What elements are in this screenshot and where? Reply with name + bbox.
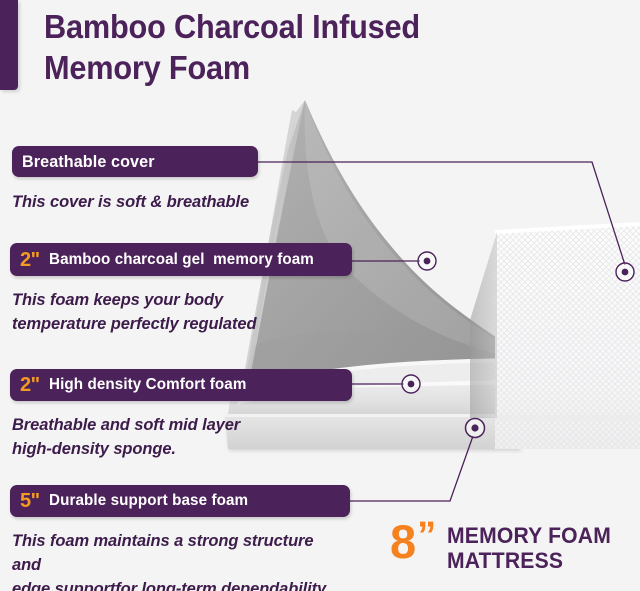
header-accent-bar — [0, 0, 18, 90]
layer-badge-label: Breathable cover — [22, 153, 155, 170]
layer-badge-label: Durable support base foam — [49, 493, 248, 509]
product-name: MEMORY FOAM MATTRESS — [447, 523, 611, 573]
marker-bamboo-charcoal-gel[interactable] — [418, 252, 436, 270]
marker-durable-support-base[interactable] — [466, 419, 485, 438]
marker-high-density-comfort[interactable] — [402, 375, 420, 393]
marker-breathable-cover[interactable] — [616, 263, 634, 281]
infographic-root: Bamboo Charcoal Infused Memory Foam Brea… — [0, 0, 640, 591]
layer-badge-breathable-cover[interactable]: Breathable cover — [12, 146, 258, 177]
layer-depth-value: 5" — [20, 491, 40, 511]
layer-badge-bamboo-charcoal-gel[interactable]: 2" Bamboo charcoal gel memory foam — [10, 243, 352, 276]
layer-badge-durable-support-base[interactable]: 5" Durable support base foam — [10, 485, 350, 517]
layer-badge-high-density-comfort[interactable]: 2" High density Comfort foam — [10, 369, 352, 401]
layer-badge-label: Bamboo charcoal gel memory foam — [49, 252, 314, 268]
layer-description-high-density-comfort: Breathable and soft mid layer high-densi… — [12, 413, 322, 461]
layer-description-bamboo-charcoal-gel: This foam keeps your body temperature pe… — [12, 288, 313, 336]
layer-depth-value: 2" — [20, 250, 40, 270]
mattress-cover-block — [495, 222, 640, 449]
layer-description-breathable-cover: This cover is soft & breathable — [12, 190, 303, 214]
product-thickness-brand: 8 ” MEMORY FOAM MATTRESS — [390, 521, 618, 573]
thickness-unit-icon: ” — [417, 521, 436, 551]
layer-description-durable-support-base: This foam maintains a strong structure a… — [12, 529, 347, 591]
layer-badge-label: High density Comfort foam — [49, 377, 246, 393]
thickness-number: 8 — [390, 521, 415, 563]
mattress-side-face — [470, 232, 497, 418]
page-title: Bamboo Charcoal Infused Memory Foam — [44, 6, 481, 88]
layer-depth-value: 2" — [20, 375, 40, 395]
